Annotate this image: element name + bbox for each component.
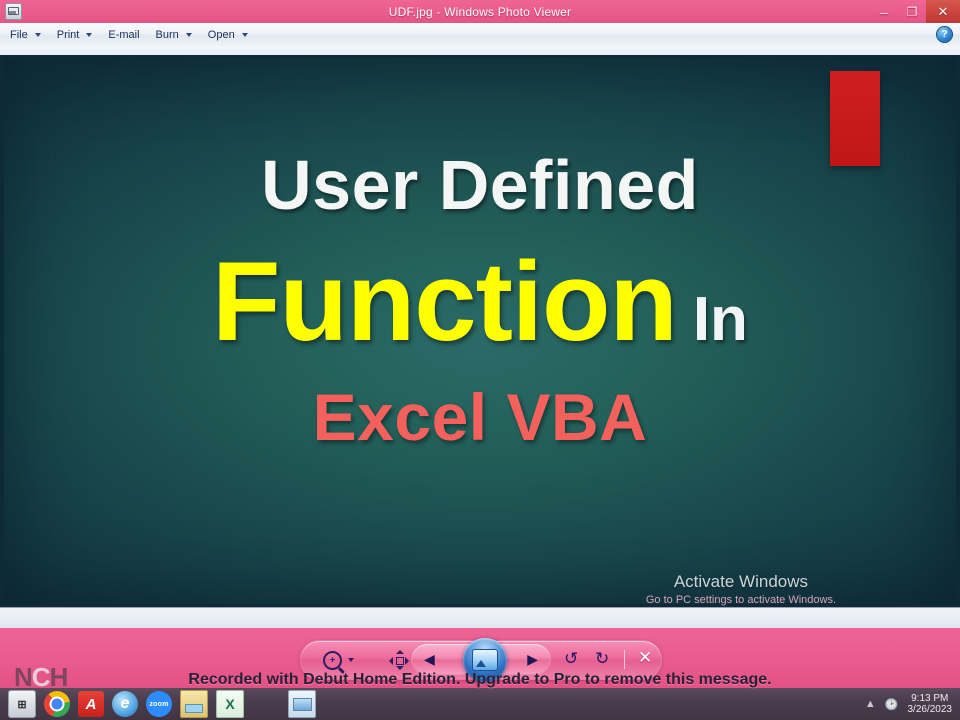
rotate-clockwise-button[interactable]: ↻ — [595, 650, 609, 667]
chevron-down-icon[interactable] — [242, 33, 248, 37]
menu-item-file-label: File — [10, 29, 28, 41]
zoom-plus-glyph: + — [330, 656, 335, 665]
taskbar-item-acrobat[interactable]: A — [78, 691, 104, 717]
action-center-icon[interactable]: 🕑 — [885, 698, 899, 711]
slideshow-button[interactable] — [463, 638, 507, 682]
chevron-down-icon[interactable] — [348, 658, 354, 662]
taskbar-item-excel[interactable]: X — [216, 690, 244, 718]
fit-to-window-button[interactable] — [390, 651, 408, 669]
slideshow-icon — [472, 649, 498, 671]
rotate-counterclockwise-button[interactable]: ↺ — [564, 650, 578, 667]
system-tray: ▲ 🕑 9:13 PM 3/26/2023 — [865, 688, 956, 720]
clock-time: 9:13 PM — [908, 693, 953, 705]
slide-word-function: Function — [212, 246, 677, 358]
restore-button[interactable]: ❐ — [898, 0, 926, 23]
nch-logo: NCH — [14, 662, 67, 693]
menu-bar: File Print E-mail Burn Open ? — [0, 23, 960, 47]
menu-item-open-label: Open — [208, 29, 235, 41]
arrow-down-icon — [396, 666, 404, 670]
nch-logo-c: C — [32, 662, 50, 692]
control-separator — [624, 650, 625, 669]
window-title: UDF.jpg - Windows Photo Viewer — [0, 5, 960, 19]
start-button[interactable]: ⊞ — [8, 690, 36, 718]
minimize-button[interactable]: – — [870, 0, 898, 23]
slide-line-user-defined: User Defined — [261, 150, 699, 220]
menu-item-open[interactable]: Open — [202, 25, 254, 44]
menu-item-email[interactable]: E-mail — [102, 25, 145, 44]
photo-viewer-icon — [5, 3, 22, 20]
arrow-left-icon — [389, 657, 393, 665]
delete-button[interactable]: ✕ — [638, 649, 652, 666]
help-icon[interactable]: ? — [937, 27, 952, 42]
taskbar: ⊞ A e zoom X ▲ 🕑 9:13 PM 3/26/2023 — [0, 688, 960, 720]
taskbar-item-explorer[interactable] — [180, 690, 208, 718]
arrow-up-icon — [396, 650, 404, 654]
clock[interactable]: 9:13 PM 3/26/2023 — [908, 693, 953, 716]
taskbar-item-ie[interactable]: e — [112, 691, 138, 717]
slide-line-excel-vba: Excel VBA — [313, 384, 648, 450]
chevron-down-icon[interactable] — [86, 33, 92, 37]
nch-logo-n: N — [14, 662, 32, 692]
slide-text-group: User Defined Function In Excel VBA — [4, 58, 956, 604]
photo-canvas[interactable]: User Defined Function In Excel VBA Activ… — [0, 55, 960, 607]
menu-item-print[interactable]: Print — [51, 25, 99, 44]
photo-viewer-window: UDF.jpg - Windows Photo Viewer – ❐ ✕ Fil… — [0, 0, 960, 720]
previous-button[interactable]: ◀ — [424, 652, 435, 666]
zoom-control-button[interactable]: + — [323, 651, 354, 670]
menu-item-burn[interactable]: Burn — [150, 25, 198, 44]
photo-control-bar: + ◀ ▶ ↺ ↻ ✕ — [300, 640, 662, 680]
window-controls: – ❐ ✕ — [870, 0, 960, 23]
taskbar-item-chrome[interactable] — [44, 691, 70, 717]
magnifier-icon: + — [323, 651, 342, 670]
fit-square-icon — [396, 657, 404, 665]
taskbar-item-zoom[interactable]: zoom — [146, 691, 172, 717]
menu-item-burn-label: Burn — [156, 29, 179, 41]
nch-logo-h: H — [50, 662, 68, 692]
menu-item-print-label: Print — [57, 29, 80, 41]
viewer-gap — [0, 607, 960, 629]
chevron-down-icon[interactable] — [186, 33, 192, 37]
next-button[interactable]: ▶ — [527, 652, 538, 666]
title-bar[interactable]: UDF.jpg - Windows Photo Viewer – ❐ ✕ — [0, 0, 960, 23]
clock-date: 3/26/2023 — [908, 704, 953, 716]
taskbar-item-photoviewer[interactable] — [288, 690, 316, 718]
menu-item-file[interactable]: File — [4, 25, 47, 44]
chevron-down-icon[interactable] — [35, 33, 41, 37]
close-button[interactable]: ✕ — [926, 0, 960, 23]
slide-line-function-in: Function In — [212, 246, 748, 358]
arrow-right-icon — [405, 657, 409, 665]
show-hidden-icons-icon[interactable]: ▲ — [865, 698, 876, 710]
slide-word-in: In — [693, 289, 748, 351]
menu-item-email-label: E-mail — [108, 29, 139, 41]
slide-image: User Defined Function In Excel VBA Activ… — [4, 58, 956, 604]
